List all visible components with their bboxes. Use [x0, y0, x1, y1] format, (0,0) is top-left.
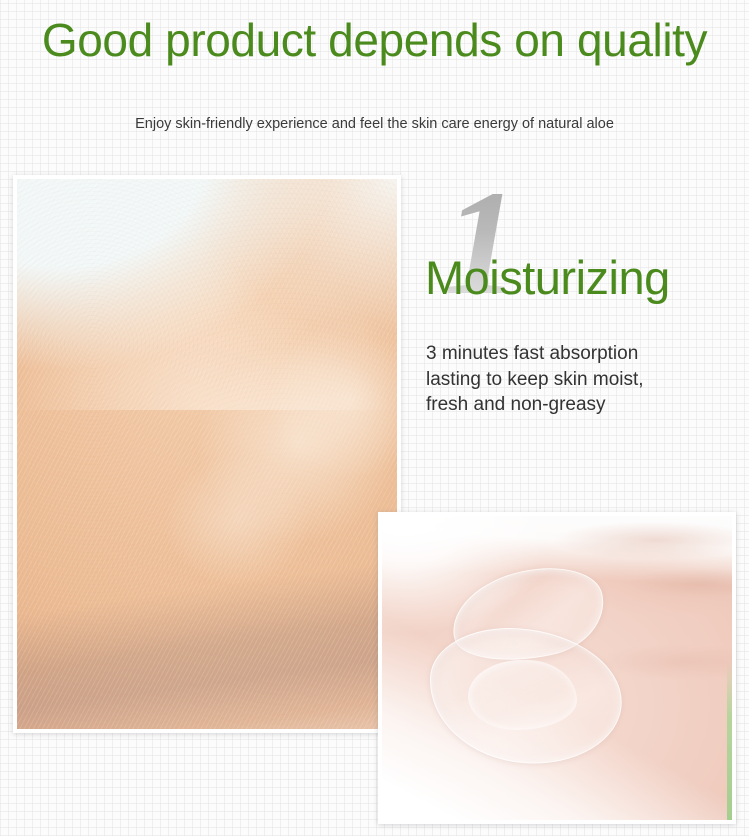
page-subtitle: Enjoy skin-friendly experience and feel …	[0, 114, 749, 134]
aloe-gel-core-highlight	[468, 660, 577, 730]
page-title: Good product depends on quality	[0, 12, 749, 68]
feature-description: 3 minutes fast absorption lasting to kee…	[426, 341, 676, 418]
feature-title: Moisturizing	[425, 250, 670, 306]
skin-closeup-photo-image	[17, 179, 397, 729]
green-accent-edge	[727, 662, 732, 820]
aloe-gel-on-hand-photo	[378, 512, 736, 824]
skin-sheen-highlight	[17, 179, 397, 729]
aloe-gel-blob	[421, 571, 638, 766]
aloe-gel-on-hand-photo-image	[382, 516, 732, 820]
product-feature-page: Good product depends on quality Enjoy sk…	[0, 0, 749, 836]
skin-closeup-photo	[13, 175, 401, 733]
